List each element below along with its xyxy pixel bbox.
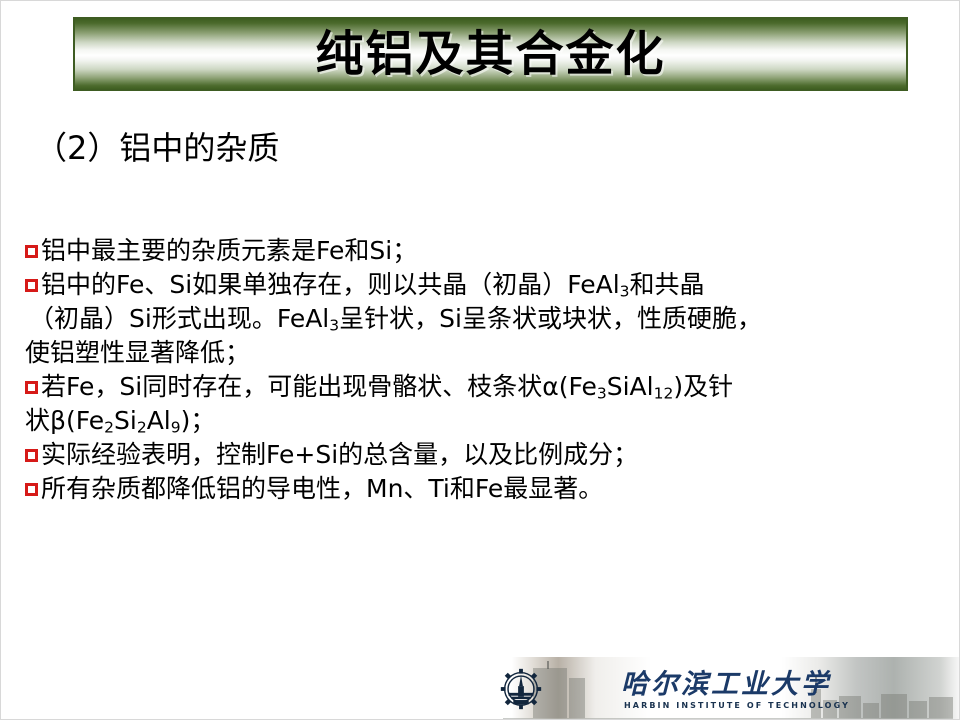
- university-name-cn: 哈尔滨工业大学: [621, 662, 831, 701]
- bullet-text: 所有杂质都降低铝的导电性，Mn、Ti和Fe最显著。: [41, 472, 603, 506]
- slide-title: 纯铝及其合金化: [315, 30, 665, 78]
- bullet-text: 若Fe，Si同时存在，可能出现骨骼状、枝条状α(Fe3SiAl12)及针: [41, 370, 733, 404]
- bullet-text: 实际经验表明，控制Fe+Si的总含量，以及比例成分；: [41, 438, 638, 472]
- bullet-square-icon: [25, 279, 38, 292]
- bullet-item: 铝中的Fe、Si如果单独存在，则以共晶（初晶）FeAl3和共晶: [25, 268, 945, 302]
- bullet-list: 铝中最主要的杂质元素是Fe和Si；铝中的Fe、Si如果单独存在，则以共晶（初晶）…: [25, 234, 945, 506]
- footer-logo: 哈尔滨工业大学 HARBIN INSTITUTE OF TECHNOLOGY: [493, 657, 959, 720]
- bullet-text: 铝中的Fe、Si如果单独存在，则以共晶（初晶）FeAl3和共晶: [41, 268, 705, 302]
- bullet-square-icon: [25, 381, 38, 394]
- bullet-text: 铝中最主要的杂质元素是Fe和Si；: [41, 234, 417, 268]
- bullet-continuation-line: 状β(Fe2Si2Al9)；: [25, 404, 945, 438]
- bullet-text: 状β(Fe2Si2Al9)；: [25, 404, 215, 438]
- title-banner: 纯铝及其合金化: [73, 17, 908, 91]
- bullet-square-icon: [25, 245, 38, 258]
- bullet-text: （初晶）Si形式出现。FeAl3呈针状，Si呈条状或块状，性质硬脆，: [29, 302, 762, 336]
- bullet-item: 铝中最主要的杂质元素是Fe和Si；: [25, 234, 945, 268]
- hit-gear-emblem-icon: [497, 665, 545, 713]
- bullet-item: 若Fe，Si同时存在，可能出现骨骼状、枝条状α(Fe3SiAl12)及针: [25, 370, 945, 404]
- bullet-continuation-line: （初晶）Si形式出现。FeAl3呈针状，Si呈条状或块状，性质硬脆，: [25, 302, 945, 336]
- bullet-continuation-line: 使铝塑性显著降低；: [25, 336, 945, 370]
- slide-subtitle: （2）铝中的杂质: [35, 129, 279, 167]
- university-name-en: HARBIN INSTITUTE OF TECHNOLOGY: [624, 701, 850, 710]
- bullet-square-icon: [25, 449, 38, 462]
- bullet-item: 实际经验表明，控制Fe+Si的总含量，以及比例成分；: [25, 438, 945, 472]
- slide-canvas: 纯铝及其合金化 （2）铝中的杂质 铝中最主要的杂质元素是Fe和Si；铝中的Fe、…: [0, 0, 960, 720]
- bullet-item: 所有杂质都降低铝的导电性，Mn、Ti和Fe最显著。: [25, 472, 945, 506]
- bullet-text: 使铝塑性显著降低；: [25, 336, 250, 370]
- bullet-square-icon: [25, 483, 38, 496]
